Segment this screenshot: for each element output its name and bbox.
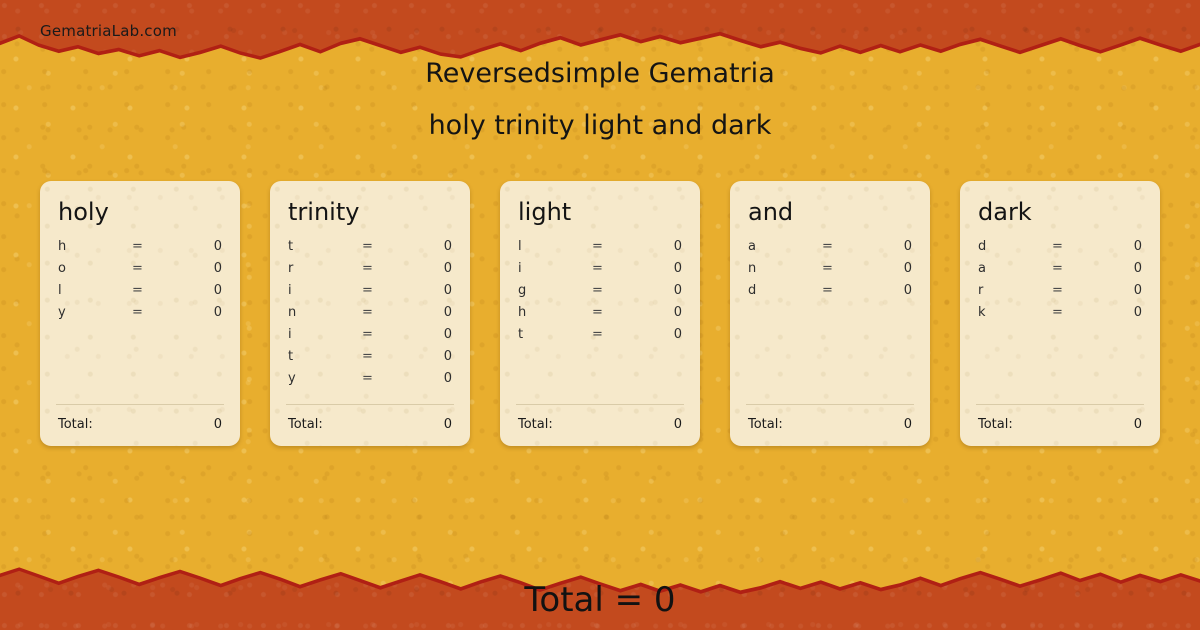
equals-sign: =	[362, 261, 406, 276]
letter-row: n=0	[284, 305, 456, 327]
letter-row: l=0	[54, 283, 226, 305]
letter-value: 0	[1096, 305, 1146, 320]
equals-sign: =	[132, 283, 176, 298]
equals-sign: =	[1052, 261, 1096, 276]
equals-sign: =	[362, 283, 406, 298]
letter-row: i=0	[514, 261, 686, 283]
equals-sign: =	[1052, 239, 1096, 254]
letter-value: 0	[176, 305, 226, 320]
card-total-row: Total:0	[514, 405, 686, 432]
equals-sign: =	[1052, 283, 1096, 298]
letter-row: r=0	[284, 261, 456, 283]
letter-char: a	[974, 261, 1052, 276]
letter-char: o	[54, 261, 132, 276]
letter-value: 0	[636, 327, 686, 342]
card-total-row: Total:0	[974, 405, 1146, 432]
letter-value: 0	[176, 239, 226, 254]
letter-value: 0	[866, 239, 916, 254]
card-total-row: Total:0	[54, 405, 226, 432]
card-word-title: light	[518, 199, 686, 225]
letter-value: 0	[866, 261, 916, 276]
letter-char: d	[974, 239, 1052, 254]
letter-value: 0	[636, 283, 686, 298]
letter-value: 0	[636, 261, 686, 276]
card-total-label: Total:	[748, 417, 904, 432]
equals-sign: =	[132, 305, 176, 320]
letter-value: 0	[176, 261, 226, 276]
gematria-result-card: GematriaLab.com Reversedsimple Gematria …	[0, 0, 1200, 630]
card-word-title: holy	[58, 199, 226, 225]
equals-sign: =	[592, 305, 636, 320]
letter-char: n	[284, 305, 362, 320]
letter-char: g	[514, 283, 592, 298]
letter-row: a=0	[744, 239, 916, 261]
equals-sign: =	[362, 327, 406, 342]
letter-value-list: l=0i=0g=0h=0t=0	[514, 239, 686, 398]
letter-value: 0	[1096, 239, 1146, 254]
equals-sign: =	[822, 283, 866, 298]
letter-value: 0	[866, 283, 916, 298]
card-total-value: 0	[214, 417, 222, 432]
equals-sign: =	[362, 349, 406, 364]
letter-value-list: h=0o=0l=0y=0	[54, 239, 226, 398]
letter-row: a=0	[974, 261, 1146, 283]
letter-value: 0	[406, 305, 456, 320]
card-word-title: trinity	[288, 199, 456, 225]
letter-char: r	[974, 283, 1052, 298]
letter-char: y	[284, 371, 362, 386]
letter-row: h=0	[514, 305, 686, 327]
card-total-row: Total:0	[744, 405, 916, 432]
letter-row: r=0	[974, 283, 1146, 305]
letter-value: 0	[176, 283, 226, 298]
equals-sign: =	[592, 283, 636, 298]
letter-value: 0	[406, 261, 456, 276]
letter-char: l	[514, 239, 592, 254]
letter-value: 0	[406, 327, 456, 342]
word-card: holyh=0o=0l=0y=0Total:0	[40, 181, 240, 446]
letter-char: h	[514, 305, 592, 320]
equals-sign: =	[822, 239, 866, 254]
letter-char: l	[54, 283, 132, 298]
card-total-label: Total:	[58, 417, 214, 432]
letter-row: y=0	[54, 305, 226, 327]
letter-row: o=0	[54, 261, 226, 283]
letter-char: n	[744, 261, 822, 276]
letter-row: k=0	[974, 305, 1146, 327]
grand-total: Total = 0	[0, 580, 1200, 620]
word-card: trinityt=0r=0i=0n=0i=0t=0y=0Total:0	[270, 181, 470, 446]
letter-row: i=0	[284, 283, 456, 305]
word-card: anda=0n=0d=0Total:0	[730, 181, 930, 446]
letter-value: 0	[406, 239, 456, 254]
card-word-title: dark	[978, 199, 1146, 225]
word-card-list: holyh=0o=0l=0y=0Total:0trinityt=0r=0i=0n…	[40, 181, 1160, 446]
letter-value: 0	[1096, 261, 1146, 276]
letter-value: 0	[406, 283, 456, 298]
letter-row: n=0	[744, 261, 916, 283]
letter-value: 0	[406, 371, 456, 386]
card-total-label: Total:	[978, 417, 1134, 432]
card-total-row: Total:0	[284, 405, 456, 432]
letter-char: y	[54, 305, 132, 320]
card-total-value: 0	[904, 417, 912, 432]
letter-value: 0	[636, 239, 686, 254]
letter-char: a	[744, 239, 822, 254]
cipher-title: Reversedsimple Gematria	[0, 58, 1200, 90]
site-brand[interactable]: GematriaLab.com	[40, 22, 177, 40]
phrase-title: holy trinity light and dark	[0, 110, 1200, 142]
letter-row: y=0	[284, 371, 456, 393]
letter-value-list: a=0n=0d=0	[744, 239, 916, 398]
letter-char: k	[974, 305, 1052, 320]
letter-char: r	[284, 261, 362, 276]
letter-row: l=0	[514, 239, 686, 261]
letter-char: t	[284, 239, 362, 254]
equals-sign: =	[132, 239, 176, 254]
letter-row: h=0	[54, 239, 226, 261]
letter-char: i	[284, 327, 362, 342]
card-total-label: Total:	[518, 417, 674, 432]
equals-sign: =	[362, 371, 406, 386]
card-total-value: 0	[674, 417, 682, 432]
letter-value: 0	[636, 305, 686, 320]
equals-sign: =	[592, 261, 636, 276]
equals-sign: =	[362, 239, 406, 254]
word-card: darkd=0a=0r=0k=0Total:0	[960, 181, 1160, 446]
letter-row: d=0	[974, 239, 1146, 261]
letter-value-list: t=0r=0i=0n=0i=0t=0y=0	[284, 239, 456, 398]
equals-sign: =	[822, 261, 866, 276]
letter-char: i	[514, 261, 592, 276]
letter-char: d	[744, 283, 822, 298]
letter-value-list: d=0a=0r=0k=0	[974, 239, 1146, 398]
letter-row: t=0	[284, 349, 456, 371]
letter-row: g=0	[514, 283, 686, 305]
equals-sign: =	[592, 239, 636, 254]
equals-sign: =	[592, 327, 636, 342]
letter-value: 0	[1096, 283, 1146, 298]
letter-char: t	[284, 349, 362, 364]
header: Reversedsimple Gematria holy trinity lig…	[0, 58, 1200, 143]
letter-char: i	[284, 283, 362, 298]
letter-char: t	[514, 327, 592, 342]
card-total-value: 0	[444, 417, 452, 432]
letter-value: 0	[406, 349, 456, 364]
card-word-title: and	[748, 199, 916, 225]
letter-row: t=0	[284, 239, 456, 261]
letter-row: d=0	[744, 283, 916, 305]
card-total-label: Total:	[288, 417, 444, 432]
letter-row: t=0	[514, 327, 686, 349]
word-card: lightl=0i=0g=0h=0t=0Total:0	[500, 181, 700, 446]
card-total-value: 0	[1134, 417, 1142, 432]
letter-char: h	[54, 239, 132, 254]
letter-row: i=0	[284, 327, 456, 349]
equals-sign: =	[362, 305, 406, 320]
equals-sign: =	[1052, 305, 1096, 320]
equals-sign: =	[132, 261, 176, 276]
